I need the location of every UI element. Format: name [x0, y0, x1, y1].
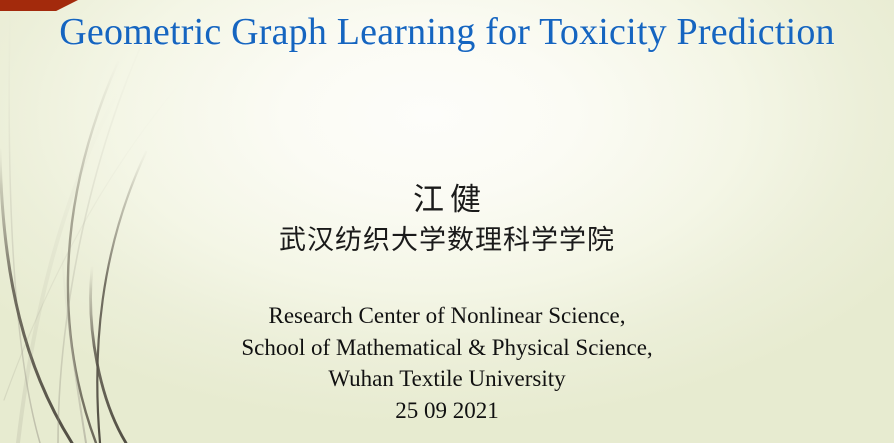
presenter-block: 江健 武汉纺织大学数理科学学院 — [0, 182, 894, 258]
presentation-date: 25 09 2021 — [0, 395, 894, 427]
address-block: Research Center of Nonlinear Science, Sc… — [0, 300, 894, 426]
presenter-affiliation: 武汉纺织大学数理科学学院 — [0, 223, 894, 259]
title-slide: Geometric Graph Learning for Toxicity Pr… — [0, 0, 894, 443]
presenter-name: 江健 — [0, 182, 894, 219]
address-line: Wuhan Textile University — [0, 363, 894, 395]
page-title: Geometric Graph Learning for Toxicity Pr… — [0, 11, 894, 54]
accent-banner — [0, 0, 78, 11]
address-line: School of Mathematical & Physical Scienc… — [0, 332, 894, 364]
address-line: Research Center of Nonlinear Science, — [0, 300, 894, 332]
